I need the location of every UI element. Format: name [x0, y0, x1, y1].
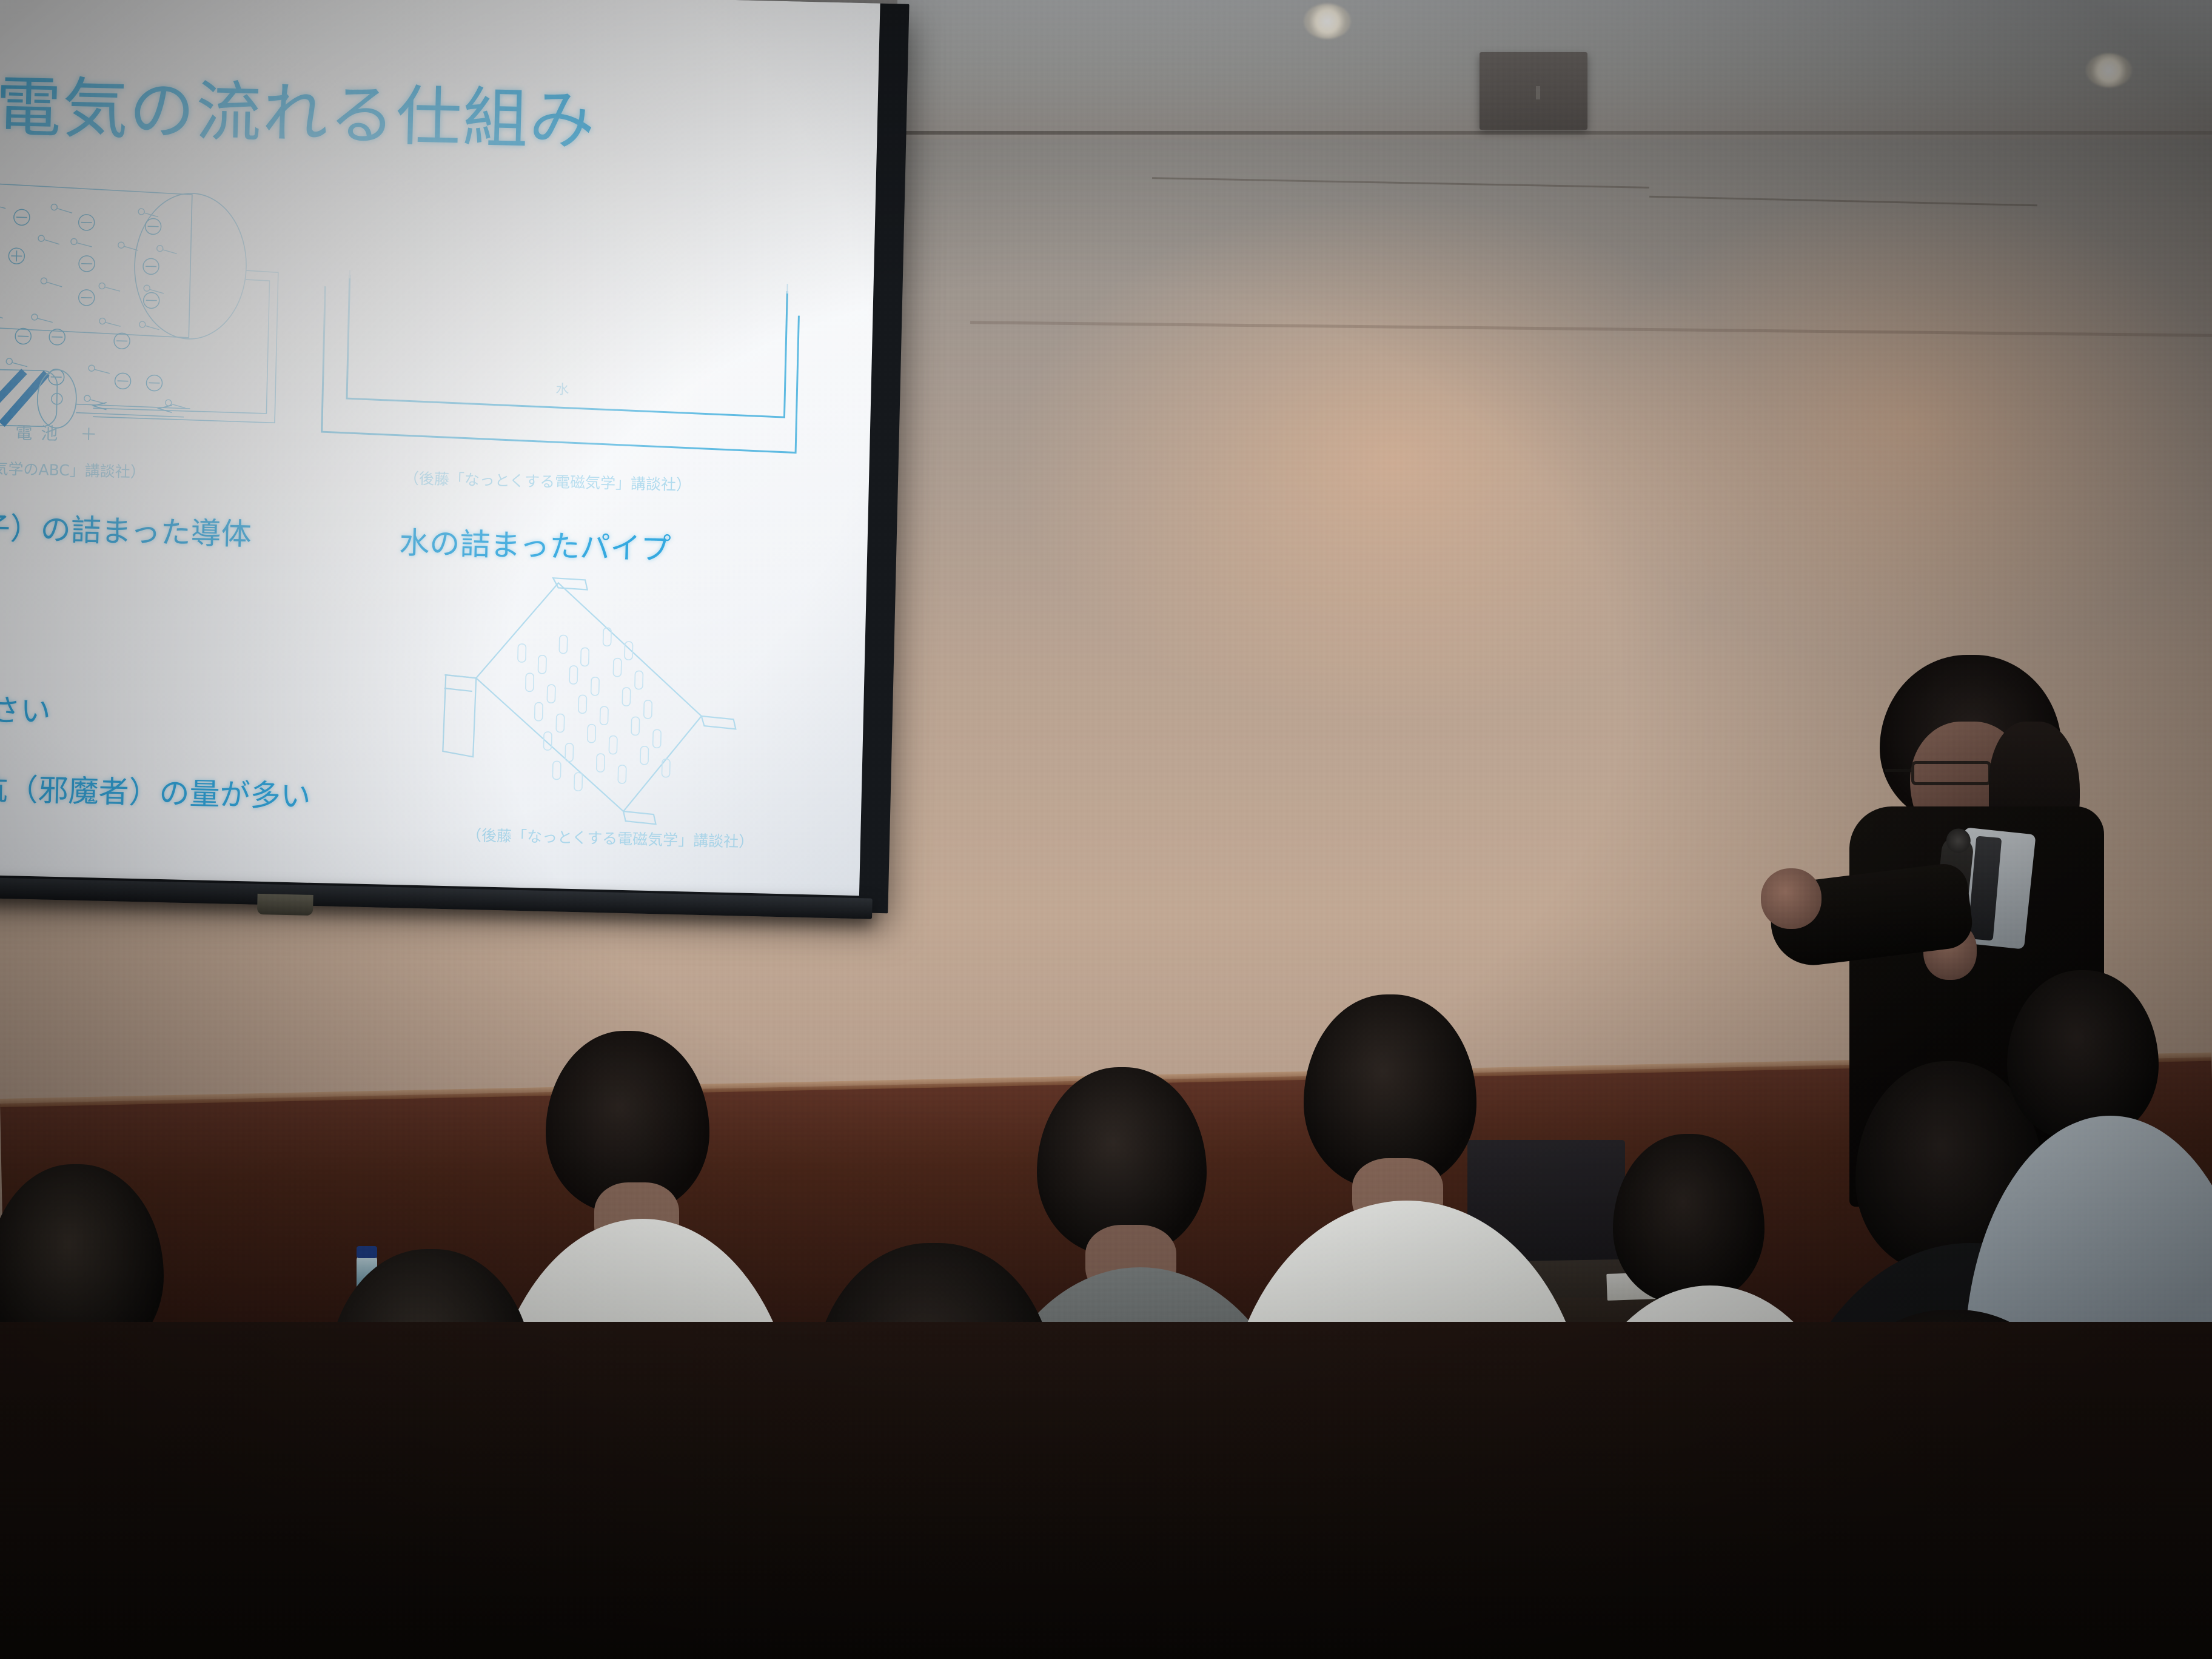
- figure-water-pipe: 水: [316, 269, 805, 475]
- svg-text:水: 水: [555, 382, 569, 398]
- figure-obstacle-plate: [423, 569, 774, 837]
- ceiling-edge: [897, 131, 2212, 135]
- battery-label: － 電池 ＋: [0, 419, 106, 446]
- glasses-icon: [1911, 761, 1991, 785]
- label-water-pipe: 水の詰まったパイプ: [399, 518, 672, 569]
- figure-charged-conductor: [0, 175, 317, 444]
- label-conductor: （電子）の詰まった導体: [0, 503, 252, 554]
- slide: 電気の流れる仕組み: [0, 0, 880, 896]
- screen-surface: 電気の流れる仕組み: [0, 0, 880, 896]
- label-small: さが小さい: [0, 684, 52, 731]
- downlight-icon: [2086, 53, 2132, 87]
- foreground-shadow: [0, 1322, 2212, 1659]
- wall-speaker: [1480, 52, 1587, 130]
- screen-pull-knob: [257, 894, 313, 916]
- label-resistance: でも抵抗（邪魔者）の量が多い: [0, 762, 311, 816]
- lecture-room-photo: 電気の流れる仕組み: [0, 0, 2212, 1659]
- head: [1613, 1134, 1765, 1304]
- head: [2007, 970, 2159, 1140]
- projection-screen: 電気の流れる仕組み: [0, 0, 910, 925]
- citation-left: （「電磁気学のABC」講談社）: [0, 455, 146, 482]
- presenter-hand: [1761, 868, 1822, 929]
- slide-title: 電気の流れる仕組み: [0, 54, 597, 163]
- downlight-icon: [1304, 4, 1351, 39]
